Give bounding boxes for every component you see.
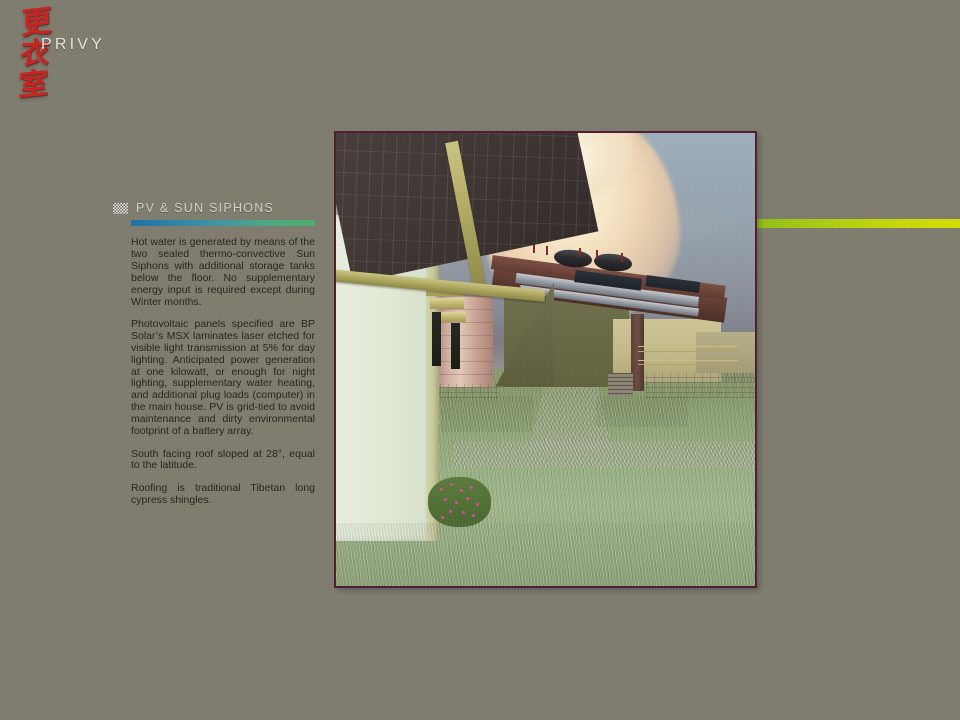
entry-steps [608,373,633,396]
window-1 [432,312,441,366]
text-column: PV & SUN SIPHONS Hot water is generated … [113,200,315,517]
roof-riser-5 [621,253,623,262]
section-heading: PV & SUN SIPHONS [136,201,274,215]
body-paragraph-2: Photovoltaic panels specified are BP Sol… [131,319,315,438]
logo-char-3: 室 [10,65,58,104]
stone-retaining-wall [646,373,755,398]
roof-riser-2 [546,246,548,255]
hedge-right [596,396,688,428]
porch-rail-lower [638,360,739,365]
cistern-bands [437,296,494,387]
body-paragraph-1: Hot water is generated by means of the t… [131,237,315,308]
window-trim-3 [437,312,466,322]
roof-riser-4 [596,250,598,259]
logo: 更 衣 室 PRIVY [8,4,128,114]
path-walkway [453,441,755,468]
window-2 [451,323,460,368]
body-paragraph-4: Roofing is traditional Tibetan long cypr… [131,483,315,507]
foreground-lawn [336,523,755,586]
body-paragraph-3: South facing roof sloped at 28°, equal t… [131,449,315,473]
heading-gradient-rule [131,220,315,226]
roof-riser-3 [579,248,581,257]
architectural-rendering [336,133,755,586]
house-side-wall [696,332,755,373]
water-cistern [437,296,494,387]
presentation-slide: 更 衣 室 PRIVY PV & SUN SIPHONS Hot water i… [0,0,960,720]
checkerboard-icon [113,203,128,214]
roof-riser-1 [533,244,535,253]
accent-bar-right [745,219,960,228]
rendering-image-panel [334,131,757,588]
section-heading-row: PV & SUN SIPHONS [113,200,315,216]
hedge-left [441,396,533,432]
flower-cluster [437,482,487,523]
porch-rail-upper [638,346,739,352]
logo-wordmark: PRIVY [41,36,105,54]
window-trim-2 [430,298,464,309]
